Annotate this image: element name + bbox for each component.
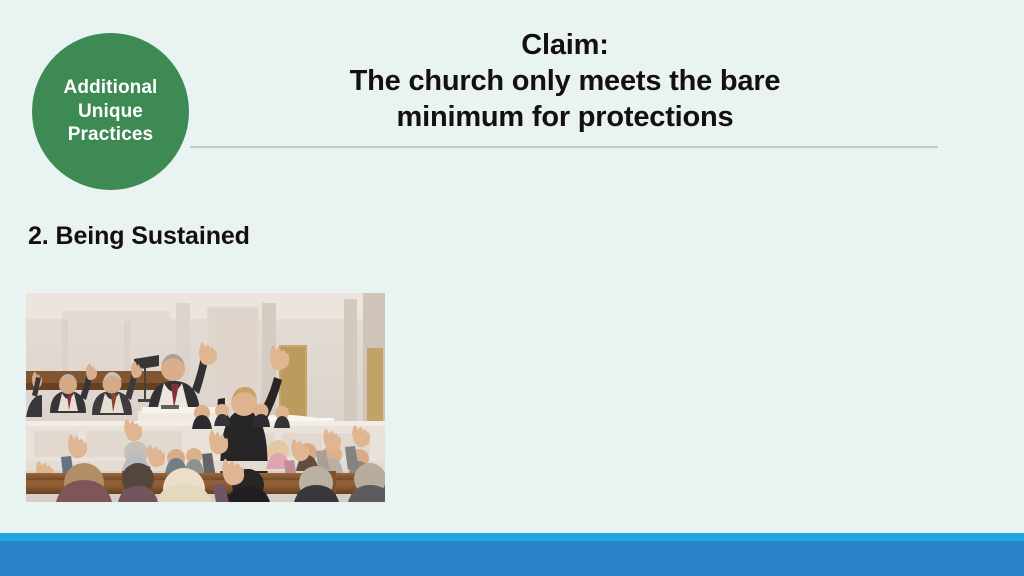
slide-title: Claim: The church only meets the bare mi… [190, 28, 940, 136]
footer-main-bar [0, 541, 1024, 576]
badge-line-3: Practices [68, 124, 153, 145]
section-heading: 2. Being Sustained [28, 222, 250, 251]
title-line-2: The church only meets the bare [190, 64, 940, 100]
title-line-3: minimum for protections [190, 100, 940, 136]
section-badge: Additional Unique Practices [32, 33, 189, 190]
badge-line-1: Additional [64, 77, 158, 98]
section-badge-label: Additional Unique Practices [64, 76, 158, 146]
chapel-sustaining-photo [26, 293, 385, 502]
chapel-sustaining-photo-graphic [26, 293, 385, 502]
footer-accent-bar [0, 533, 1024, 541]
slide-canvas: Additional Unique Practices Claim: The c… [0, 0, 1024, 576]
title-divider [190, 146, 938, 148]
title-line-1: Claim: [190, 28, 940, 64]
badge-line-2: Unique [78, 101, 143, 122]
